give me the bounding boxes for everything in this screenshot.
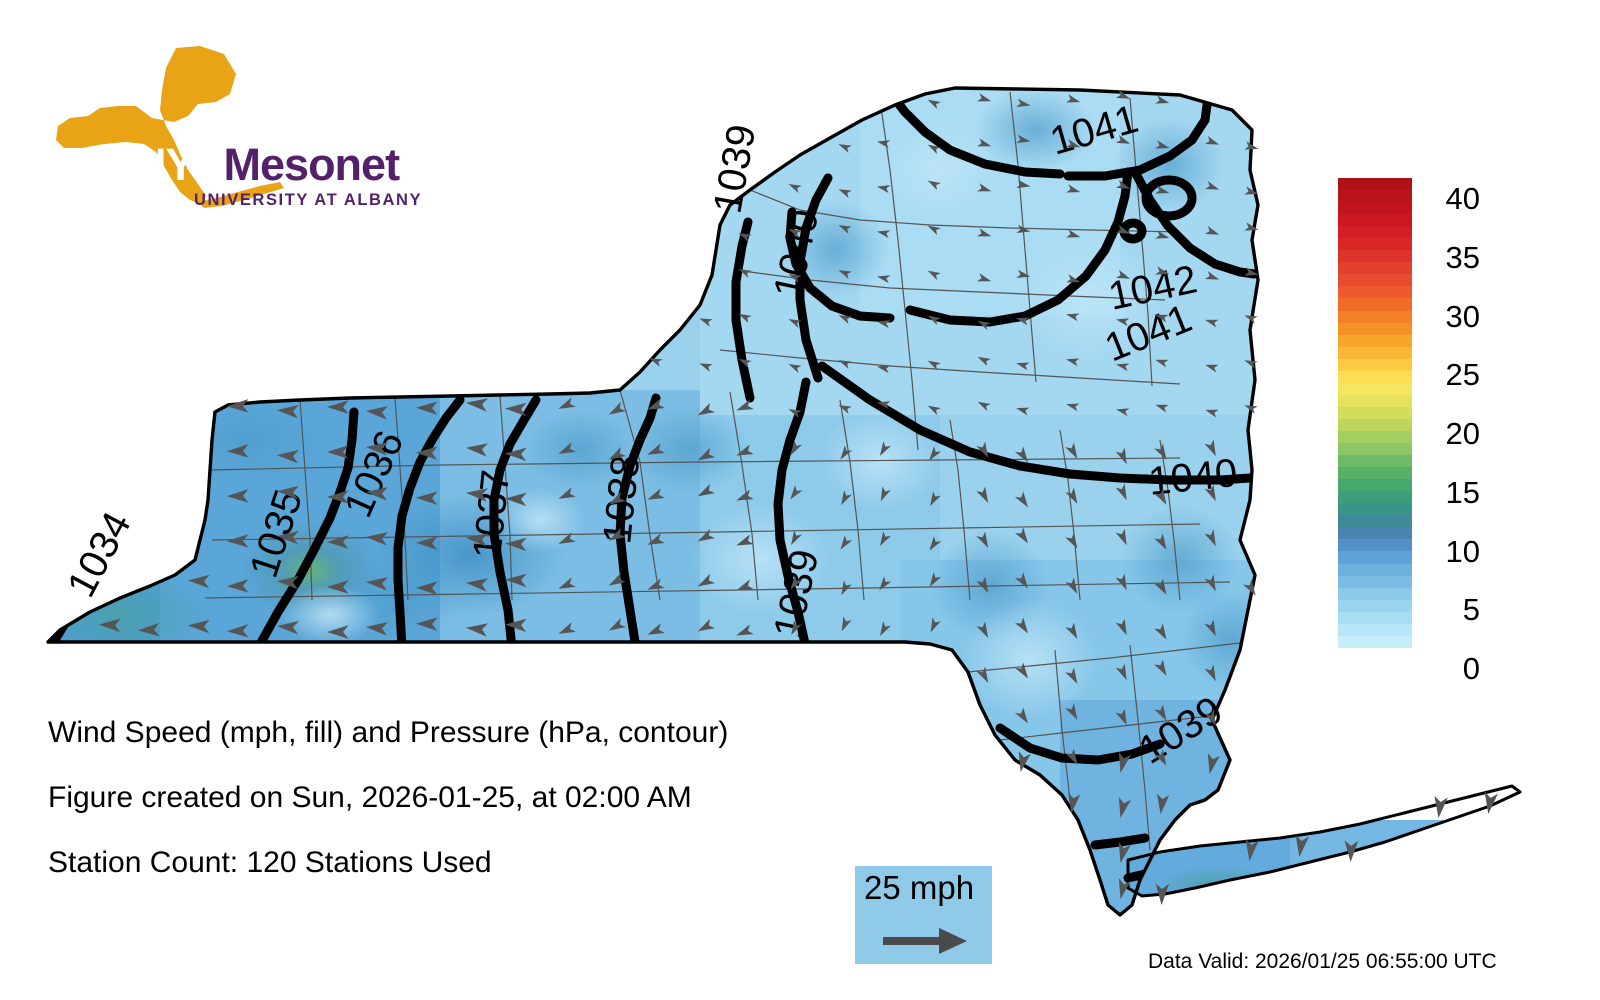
colorbar-segment <box>1338 419 1412 431</box>
colorbar-segment <box>1338 564 1412 576</box>
colorbar-segment <box>1338 467 1412 479</box>
colorbar-tick-40: 40 <box>1424 183 1480 214</box>
colorbar-segment <box>1338 359 1412 371</box>
colorbar-segment <box>1338 226 1412 238</box>
figure-captions: Wind Speed (mph, fill) and Pressure (hPa… <box>48 718 868 913</box>
colorbar-segment <box>1338 323 1412 335</box>
colorbar-segment <box>1338 262 1412 274</box>
colorbar-segment <box>1338 202 1412 214</box>
contour-label-1034: 1034 <box>59 505 140 604</box>
colorbar-segment <box>1338 431 1412 443</box>
colorbar-segment <box>1338 576 1412 588</box>
colorbar-segment <box>1338 515 1412 527</box>
wind-speed-colorbar <box>1338 178 1412 648</box>
wind-key-arrow-icon <box>883 926 969 956</box>
colorbar-segment <box>1338 455 1412 467</box>
colorbar-tick-25: 25 <box>1424 359 1480 390</box>
colorbar-segment <box>1338 636 1412 648</box>
colorbar-tick-0: 0 <box>1424 653 1480 684</box>
colorbar-segment <box>1338 335 1412 347</box>
colorbar-segment <box>1338 311 1412 323</box>
colorbar-segment <box>1338 624 1412 636</box>
colorbar-tick-5: 5 <box>1424 594 1480 625</box>
colorbar-tick-35: 35 <box>1424 242 1480 273</box>
colorbar-segment <box>1338 298 1412 310</box>
contour-label-1037: 1037 <box>465 468 518 561</box>
wind-speed-reference-key: 25 mph <box>855 866 992 964</box>
colorbar-segment <box>1338 503 1412 515</box>
caption-created: Figure created on Sun, 2026-01-25, at 02… <box>48 783 868 813</box>
colorbar-tick-10: 10 <box>1424 536 1480 567</box>
colorbar-segment <box>1338 612 1412 624</box>
colorbar-segment <box>1338 539 1412 551</box>
colorbar-segment <box>1338 178 1412 190</box>
colorbar-tick-30: 30 <box>1424 301 1480 332</box>
colorbar-segment <box>1338 347 1412 359</box>
colorbar-segment <box>1338 286 1412 298</box>
colorbar-segment <box>1338 407 1412 419</box>
colorbar-tick-15: 15 <box>1424 477 1480 508</box>
colorbar-segment <box>1338 588 1412 600</box>
colorbar-segment <box>1338 371 1412 383</box>
wind-key-label: 25 mph <box>864 870 974 906</box>
colorbar-segment <box>1338 395 1412 407</box>
caption-title: Wind Speed (mph, fill) and Pressure (hPa… <box>48 718 868 748</box>
data-valid-timestamp: Data Valid: 2026/01/25 06:55:00 UTC <box>1148 950 1497 974</box>
colorbar-segment <box>1338 238 1412 250</box>
colorbar-segment <box>1338 491 1412 503</box>
colorbar-tick-20: 20 <box>1424 418 1480 449</box>
colorbar-segment <box>1338 551 1412 563</box>
colorbar-segment <box>1338 383 1412 395</box>
colorbar-segment <box>1338 250 1412 262</box>
colorbar-tick-labels: 4035302520151050 <box>1424 158 1494 668</box>
colorbar-segment <box>1338 479 1412 491</box>
colorbar-segment <box>1338 600 1412 612</box>
colorbar-segment <box>1338 443 1412 455</box>
caption-station-count: Station Count: 120 Stations Used <box>48 848 868 878</box>
colorbar-segment <box>1338 214 1412 226</box>
colorbar-segment <box>1338 274 1412 286</box>
wind-arrow <box>1432 796 1448 819</box>
colorbar-segment <box>1338 527 1412 539</box>
colorbar-segment <box>1338 190 1412 202</box>
